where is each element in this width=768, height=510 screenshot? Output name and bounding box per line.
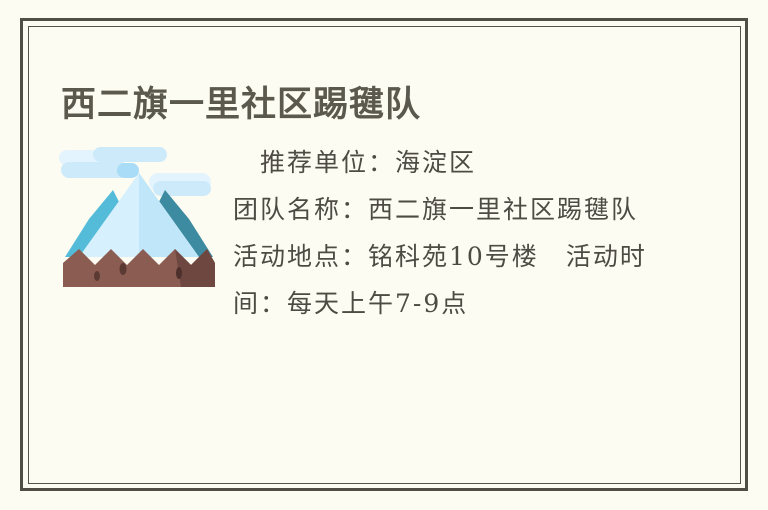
content-area: 西二旗一里社区踢毽队 — [28, 26, 741, 484]
rock-dot — [120, 263, 127, 275]
rock-dot — [176, 267, 182, 279]
mountain-landscape-icon — [57, 145, 221, 297]
article-body-text: 推荐单位：海淀区 团队名称：西二旗一里社区踢毽队 活动地点：铭科苑10号楼 活动… — [233, 139, 673, 327]
page-root: 西二旗一里社区踢毽队 — [0, 0, 768, 510]
page-title: 西二旗一里社区踢毽队 — [61, 83, 421, 127]
rock-dot — [94, 271, 100, 281]
